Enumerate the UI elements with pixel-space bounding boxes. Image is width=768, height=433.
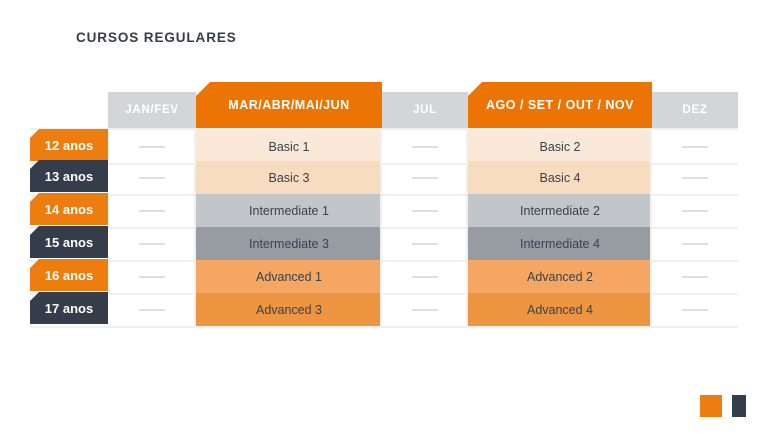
course-cell: Intermediate 2 [468, 194, 652, 227]
dash-icon [682, 210, 708, 212]
course-cell-empty [108, 194, 196, 227]
course-label: Basic 3 [269, 171, 310, 185]
column-header-label: JAN/FEV [125, 104, 178, 116]
age-tag: 13 anos [30, 160, 108, 192]
dash-icon [139, 309, 165, 311]
course-cell-empty [108, 161, 196, 194]
dash-icon [412, 309, 438, 311]
dash-icon [139, 243, 165, 245]
course-cell-empty [652, 130, 738, 163]
course-cell: Basic 2 [468, 130, 652, 163]
column-header-3: AGO / SET / OUT / NOV [468, 82, 652, 128]
course-cell-empty [382, 161, 468, 194]
course-cell-empty [108, 293, 196, 326]
course-label: Intermediate 3 [249, 237, 329, 251]
course-cell: Basic 1 [196, 130, 382, 163]
column-header-label: DEZ [682, 104, 707, 116]
table-row: 14 anosIntermediate 1Intermediate 2 [30, 194, 738, 229]
table-row: 12 anosBasic 1Basic 2 [30, 128, 738, 165]
dash-icon [682, 243, 708, 245]
dash-icon [682, 309, 708, 311]
column-divider-0 [194, 128, 196, 328]
dash-icon [412, 210, 438, 212]
column-header-2: JUL [382, 92, 468, 128]
table-row: 17 anosAdvanced 3Advanced 4 [30, 293, 738, 328]
legend [700, 395, 750, 417]
dash-icon [412, 177, 438, 179]
dash-icon [412, 243, 438, 245]
course-cell: Intermediate 3 [196, 227, 382, 260]
course-label: Advanced 2 [527, 270, 593, 284]
column-divider-1 [380, 128, 382, 328]
course-cell-empty [382, 293, 468, 326]
navy-swatch [732, 395, 746, 417]
table-row: 16 anosAdvanced 1Advanced 2 [30, 260, 738, 295]
course-cell-empty [652, 227, 738, 260]
course-label: Intermediate 2 [520, 204, 600, 218]
column-header-label: JUL [413, 104, 437, 116]
page-title: CURSOS REGULARES [76, 30, 237, 45]
course-cell-empty [652, 161, 738, 194]
course-cell: Advanced 1 [196, 260, 382, 293]
course-cell-empty [108, 260, 196, 293]
column-header-4: DEZ [652, 92, 738, 128]
course-cell-empty [382, 260, 468, 293]
dash-icon [139, 177, 165, 179]
course-cell-empty [652, 260, 738, 293]
table-row: 15 anosIntermediate 3Intermediate 4 [30, 227, 738, 262]
dash-icon [139, 210, 165, 212]
course-cell-empty [652, 194, 738, 227]
column-header-label: AGO / SET / OUT / NOV [486, 98, 634, 112]
column-divider-3 [650, 128, 652, 328]
course-label: Basic 4 [540, 171, 581, 185]
table-row: 13 anosBasic 3Basic 4 [30, 161, 738, 196]
age-tag-label: 13 anos [45, 169, 93, 184]
schedule-table: JAN/FEVMAR/ABR/MAI/JUNJULAGO / SET / OUT… [30, 78, 738, 328]
age-tag-label: 17 anos [45, 301, 93, 316]
dash-icon [139, 146, 165, 148]
dash-icon [412, 146, 438, 148]
course-cell: Basic 4 [468, 161, 652, 194]
schedule-header-row: JAN/FEVMAR/ABR/MAI/JUNJULAGO / SET / OUT… [30, 78, 738, 128]
course-cell: Advanced 3 [196, 293, 382, 326]
age-tag: 12 anos [30, 129, 108, 161]
dash-icon [682, 177, 708, 179]
age-tag: 17 anos [30, 292, 108, 324]
course-label: Advanced 4 [527, 303, 593, 317]
column-header-1: MAR/ABR/MAI/JUN [196, 82, 382, 128]
course-label: Advanced 1 [256, 270, 322, 284]
course-cell-empty [108, 227, 196, 260]
column-header-0: JAN/FEV [108, 92, 196, 128]
age-tag: 16 anos [30, 259, 108, 291]
course-cell-empty [382, 227, 468, 260]
course-cell: Advanced 4 [468, 293, 652, 326]
course-label: Intermediate 1 [249, 204, 329, 218]
course-cell-empty [108, 130, 196, 163]
course-cell-empty [382, 194, 468, 227]
course-label: Intermediate 4 [520, 237, 600, 251]
age-tag: 15 anos [30, 226, 108, 258]
age-tag-label: 12 anos [45, 138, 93, 153]
course-label: Advanced 3 [256, 303, 322, 317]
course-cell-empty [652, 293, 738, 326]
course-cell: Basic 3 [196, 161, 382, 194]
column-divider-2 [466, 128, 468, 328]
course-cell: Advanced 2 [468, 260, 652, 293]
age-tag-label: 15 anos [45, 235, 93, 250]
age-tag-label: 16 anos [45, 268, 93, 283]
dash-icon [412, 276, 438, 278]
schedule-body: 12 anosBasic 1Basic 213 anosBasic 3Basic… [30, 128, 738, 328]
dash-icon [139, 276, 165, 278]
course-cell: Intermediate 4 [468, 227, 652, 260]
course-label: Basic 2 [540, 140, 581, 154]
age-tag-label: 14 anos [45, 202, 93, 217]
dash-icon [682, 146, 708, 148]
orange-swatch [700, 395, 722, 417]
age-tag: 14 anos [30, 193, 108, 225]
course-label: Basic 1 [269, 140, 310, 154]
course-cell: Intermediate 1 [196, 194, 382, 227]
course-cell-empty [382, 130, 468, 163]
column-header-label: MAR/ABR/MAI/JUN [228, 98, 349, 112]
dash-icon [682, 276, 708, 278]
